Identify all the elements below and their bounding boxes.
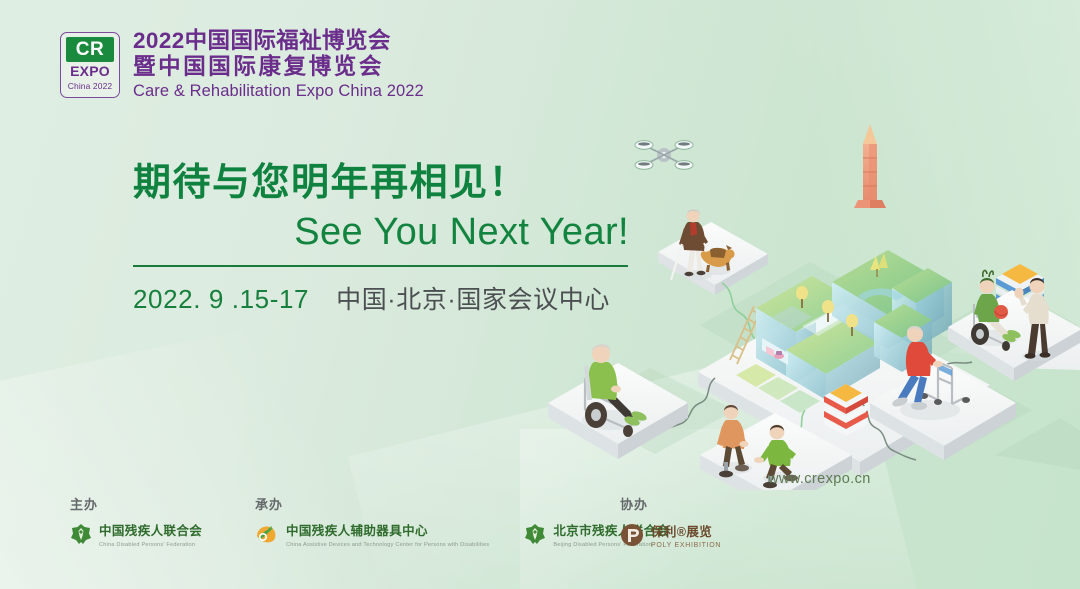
sponsor-name-en: China Assistive Devices and Technology C… — [286, 541, 489, 549]
header-title-line1: 2022中国国际福祉博览会 — [133, 28, 424, 54]
header-title-line2: 暨中国国际康复博览会 — [133, 54, 424, 80]
event-meta: 2022. 9 .15-17 中国·北京·国家会议中心 — [133, 280, 633, 316]
logo-cr-text: CR — [66, 37, 114, 62]
header-title-block: 2022中国国际福祉博览会 暨中国国际康复博览会 Care & Rehabili… — [133, 28, 424, 102]
sponsor-assistive-center: 中国残疾人辅助器具中心 China Assistive Devices and … — [255, 523, 489, 550]
sponsor-group-title: 协办 — [620, 494, 721, 513]
flower-emblem-green-icon — [524, 523, 546, 550]
logo-china-year: China 2022 — [68, 81, 112, 92]
footer-sponsors: 主办 中国残疾人联合会 China Disabled Persons' Fede… — [0, 494, 1080, 564]
sponsor-name-en: China Disabled Persons' Federation — [99, 541, 202, 549]
sponsor-name-cn: 保利®展览 — [651, 525, 721, 540]
sponsor-group-organizer: 主办 中国残疾人联合会 China Disabled Persons' Fede… — [70, 494, 202, 550]
header-title-line3: Care & Rehabilitation Expo China 2022 — [133, 81, 424, 102]
obelisk-tower — [854, 124, 886, 208]
sponsor-group-title: 主办 — [70, 494, 202, 513]
event-date: 2022. 9 .15-17 — [133, 284, 309, 315]
headline-chinese: 期待与您明年再相见！ — [133, 160, 633, 206]
poster-canvas: CR EXPO China 2022 2022中国国际福祉博览会 暨中国国际康复… — [0, 0, 1080, 589]
header: CR EXPO China 2022 2022中国国际福祉博览会 暨中国国际康复… — [60, 28, 424, 102]
sponsor-name-cn: 中国残疾人辅助器具中心 — [286, 524, 489, 539]
sponsor-name-en: POLY EXHIBITION — [651, 542, 721, 550]
poly-p-circle-icon — [620, 523, 644, 552]
headline-english: See You Next Year! — [133, 206, 633, 258]
sponsor-group-supporter: 协办 保利®展览 POLY EXHIBITION — [620, 494, 721, 552]
event-venue: 中国·北京·国家会议中心 — [336, 280, 610, 316]
sponsor-group-title: 承办 — [255, 494, 669, 513]
sponsor-cdpf: 中国残疾人联合会 China Disabled Persons' Federat… — [70, 523, 202, 550]
flower-emblem-green-icon — [70, 523, 92, 550]
logo-expo-text: EXPO — [70, 63, 110, 80]
sponsor-name-cn: 中国残疾人联合会 — [99, 524, 202, 539]
website-url[interactable]: www.crexpo.cn — [768, 471, 871, 487]
divider-rule — [133, 265, 628, 267]
assistive-device-swoosh-icon — [255, 523, 279, 550]
main-copy: 期待与您明年再相见！ See You Next Year! 2022. 9 .1… — [133, 160, 633, 316]
sponsor-group-co-organizer: 承办 中国残疾人辅助器具中心 China Assistive Devices a… — [255, 494, 669, 550]
cr-expo-logo: CR EXPO China 2022 — [60, 32, 120, 98]
sponsor-poly-exhibition: 保利®展览 POLY EXHIBITION — [620, 523, 721, 552]
drone — [635, 141, 693, 170]
